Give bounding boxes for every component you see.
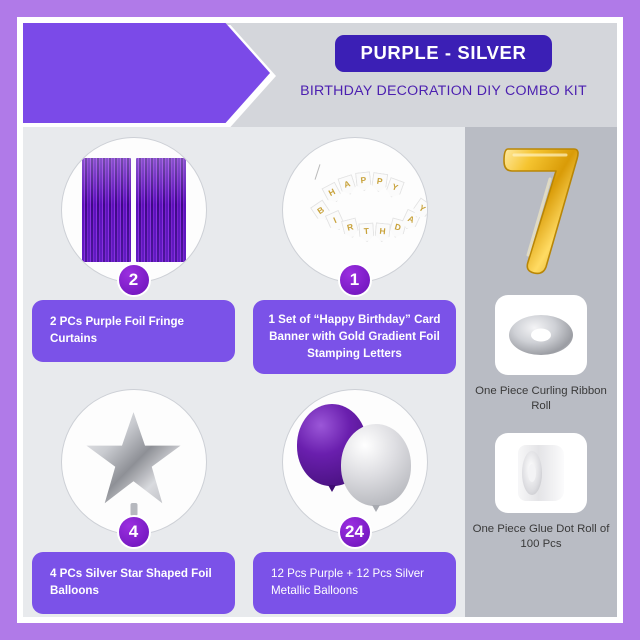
gold-number-seven-balloon-icon	[498, 143, 584, 279]
product-caption: 1 Set of “Happy Birthday” Card Banner wi…	[253, 300, 456, 374]
page-title: PURPLE - SILVER	[335, 35, 553, 72]
star-balloon-icon	[86, 412, 182, 508]
poster-header: PURPLE - SILVER BIRTHDAY DECORATION DIY …	[23, 23, 617, 127]
product-caption: 12 Pcs Purple + 12 Pcs Silver Metallic B…	[253, 552, 456, 614]
glue-dot-tile	[495, 433, 587, 513]
curling-ribbon-tile	[495, 295, 587, 375]
banner-string	[314, 164, 320, 180]
quantity-badge: 24	[338, 515, 372, 549]
poster-body: 2 2 PCs Purple Foil Fringe Curtains H A …	[23, 127, 617, 617]
header-ribbon	[23, 23, 270, 123]
banner-flag: T	[358, 222, 374, 242]
header-text-group: PURPLE - SILVER BIRTHDAY DECORATION DIY …	[270, 23, 617, 127]
sidebar-extras: One Piece Curling Ribbon Roll One Piece …	[465, 127, 617, 617]
quantity-badge: 2	[117, 263, 151, 297]
product-photo-star-balloon	[61, 389, 207, 535]
curling-ribbon-roll-icon	[509, 315, 573, 355]
poster-frame: PURPLE - SILVER BIRTHDAY DECORATION DIY …	[0, 0, 640, 640]
happy-birthday-banner-icon: H A P P Y B I R T H D	[283, 138, 427, 282]
banner-flag: P	[355, 171, 372, 191]
product-cell: 4 4 PCs Silver Star Shaped Foil Balloons	[23, 379, 244, 617]
banner-flag: P	[370, 172, 387, 193]
product-cell: H A P P Y B I R T H D	[244, 127, 465, 383]
number-balloon-wrap	[485, 139, 597, 289]
product-photo-happy-birthday-banner: H A P P Y B I R T H D	[282, 137, 428, 283]
product-grid: 2 2 PCs Purple Foil Fringe Curtains H A …	[23, 127, 465, 617]
poster-page: PURPLE - SILVER BIRTHDAY DECORATION DIY …	[23, 23, 617, 617]
fringe-curtain-icon	[82, 158, 186, 262]
banner-flag: R	[340, 217, 359, 239]
quantity-badge: 1	[338, 263, 372, 297]
product-caption: 4 PCs Silver Star Shaped Foil Balloons	[32, 552, 235, 614]
sidebar-item-label: One Piece Glue Dot Roll of 100 Pcs	[466, 522, 616, 553]
sidebar-item-label: One Piece Curling Ribbon Roll	[466, 384, 616, 415]
poster-inner-border: PURPLE - SILVER BIRTHDAY DECORATION DIY …	[17, 17, 623, 623]
product-photo-fringe-curtains	[61, 137, 207, 283]
fringe-panel-left	[82, 158, 132, 262]
product-cell: 2 2 PCs Purple Foil Fringe Curtains	[23, 127, 244, 383]
silver-balloon-icon	[341, 424, 411, 506]
quantity-badge: 4	[117, 515, 151, 549]
page-subtitle: BIRTHDAY DECORATION DIY COMBO KIT	[300, 83, 587, 99]
product-cell: 24 12 Pcs Purple + 12 Pcs Silver Metalli…	[244, 379, 465, 617]
product-photo-latex-balloons	[282, 389, 428, 535]
product-caption: 2 PCs Purple Foil Fringe Curtains	[32, 300, 235, 362]
glue-dot-roll-icon	[518, 445, 564, 501]
fringe-panel-right	[136, 158, 186, 262]
banner-flag: H	[374, 222, 391, 242]
